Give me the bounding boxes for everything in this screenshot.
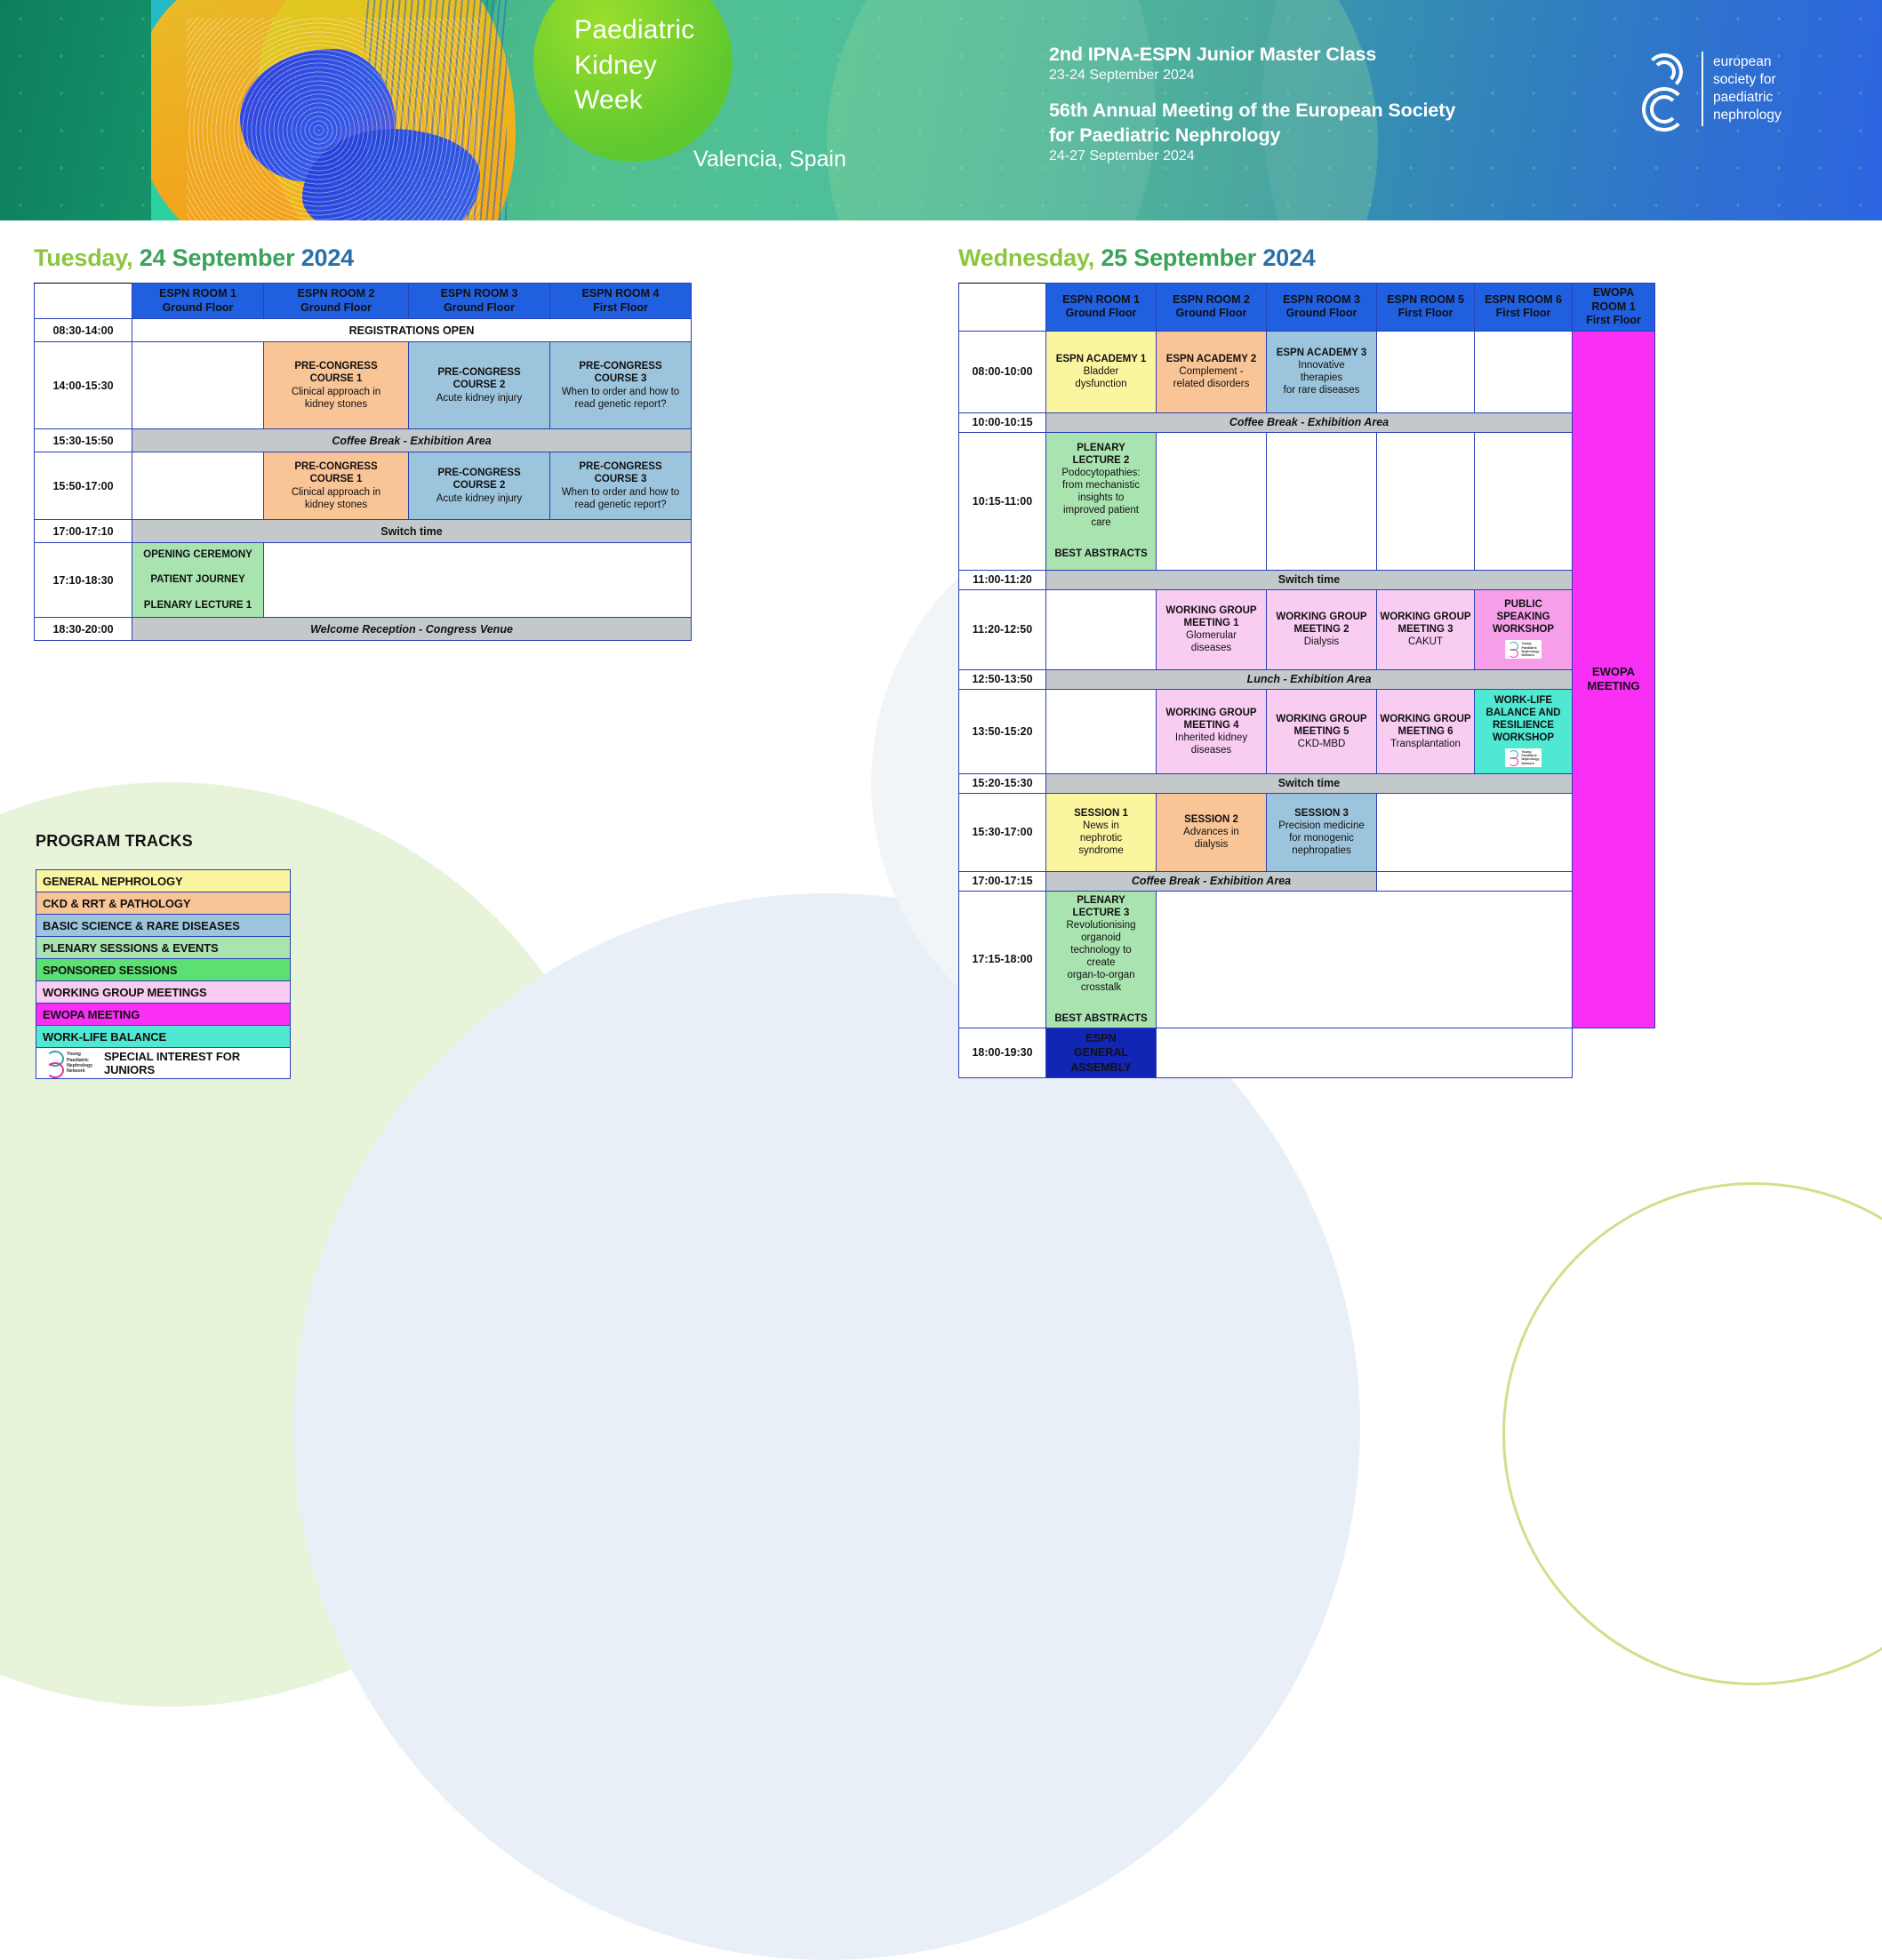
session-subtitle: Dialysis — [1304, 636, 1340, 647]
cell-label: Welcome Reception - Congress Venue — [310, 623, 513, 636]
room-name: ESPN ROOM 4 — [582, 287, 660, 300]
cell-label: ESPNGENERALASSEMBLY — [1070, 1032, 1131, 1074]
session-subtitle: Clinical approach inkidney stones — [292, 387, 380, 410]
session-subtitle: Bladderdysfunction — [1075, 366, 1126, 389]
event-title: Paediatric Kidney Week — [574, 12, 694, 118]
room-header-2: ESPN ROOM 2Ground Floor — [1157, 284, 1267, 332]
session-cell[interactable]: PRE-CONGRESSCOURSE 2Acute kidney injury — [409, 342, 550, 429]
break-cell[interactable]: Switch time — [1046, 570, 1573, 589]
session-subtitle: When to order and how toread genetic rep… — [562, 387, 679, 410]
session-subtitle: Clinical approach inkidney stones — [292, 487, 380, 510]
room-name: ESPN ROOM 2 — [298, 287, 375, 300]
table-row: 18:30-20:00Welcome Reception - Congress … — [35, 618, 692, 641]
background-ring — [1502, 1182, 1882, 1685]
empty-cell — [1475, 432, 1573, 570]
table-row: 17:00-17:10Switch time — [35, 520, 692, 543]
schedule-table-tuesday: ESPN ROOM 1Ground FloorESPN ROOM 2Ground… — [34, 283, 692, 641]
table-row: 11:20-12:50WORKING GROUPMEETING 1Glomeru… — [959, 589, 1655, 669]
room-header-4: ESPN ROOM 5First Floor — [1377, 284, 1475, 332]
room-name: ESPN ROOM 1 — [159, 287, 236, 300]
empty-cell — [1046, 589, 1157, 669]
break-cell[interactable]: Lunch - Exhibition Area — [1046, 669, 1573, 689]
session-title: PRE-CONGRESSCOURSE 3 — [579, 361, 661, 384]
session-cell[interactable]: ESPN ACADEMY 1Bladderdysfunction — [1046, 331, 1157, 412]
session-subtitle: Inherited kidneydiseases — [1175, 732, 1247, 756]
break-cell[interactable]: Switch time — [1046, 773, 1573, 793]
cell-label: Coffee Break - Exhibition Area — [1132, 875, 1291, 887]
cell-label: Switch time — [1278, 573, 1340, 586]
time-slot: 10:00-10:15 — [959, 412, 1046, 432]
session-extra: BEST ABSTRACTS — [1048, 1000, 1154, 1025]
table-corner-cell — [35, 284, 132, 319]
schedule-table-wednesday: ESPN ROOM 1Ground FloorESPN ROOM 2Ground… — [958, 283, 1655, 1078]
session-cell[interactable]: WORKING GROUPMEETING 1Glomerulardiseases — [1157, 589, 1267, 669]
session-extra: BEST ABSTRACTS — [1048, 535, 1154, 560]
session-title: WORKING GROUPMEETING 1 — [1165, 605, 1256, 628]
ypnn-badge-icon: YoungPaediatricNephrologyNetwork — [1505, 640, 1542, 659]
header-banner: Paediatric Kidney Week Valencia, Spain 2… — [0, 0, 1882, 220]
session-title: ESPN ACADEMY 1 — [1056, 354, 1147, 364]
table-row: 10:00-10:15Coffee Break - Exhibition Are… — [959, 412, 1655, 432]
wednesday-title-part-3: 2024 — [1256, 244, 1316, 271]
session-cell[interactable]: PUBLIC SPEAKINGWORKSHOPYoungPaediatricNe… — [1475, 589, 1573, 669]
session-title: SESSION 2 — [1184, 814, 1238, 825]
session-cell[interactable]: PRE-CONGRESSCOURSE 3When to order and ho… — [550, 342, 692, 429]
table-header-row: ESPN ROOM 1Ground FloorESPN ROOM 2Ground… — [35, 284, 692, 319]
track-legend-item-9: YoungPaediatricNephrologyNetworkSPECIAL … — [36, 1048, 290, 1078]
session-subtitle: Advances indialysis — [1183, 827, 1239, 850]
room-header-3: ESPN ROOM 3Ground Floor — [409, 284, 550, 319]
meta-1-sub: 24-27 September 2024 — [1049, 148, 1455, 164]
session-subtitle: CKD-MBD — [1298, 739, 1346, 749]
session-cell[interactable]: WORKING GROUPMEETING 6Transplantation — [1377, 689, 1475, 773]
room-floor: Ground Floor — [1286, 307, 1357, 319]
room-floor: First Floor — [1398, 307, 1454, 319]
table-row: 14:00-15:30PRE-CONGRESSCOURSE 1Clinical … — [35, 342, 692, 429]
espn-logo: european society for paediatric nephrolo… — [1640, 40, 1809, 138]
wednesday-title-part-2: 25 September — [1094, 244, 1256, 271]
ypnn-badge-icon: YoungPaediatricNephrologyNetwork — [1505, 748, 1542, 767]
time-slot: 08:00-10:00 — [959, 331, 1046, 412]
time-slot: 17:00-17:10 — [35, 520, 132, 543]
empty-cell — [1377, 793, 1573, 871]
empty-cell — [1157, 1028, 1573, 1078]
break-cell[interactable]: Coffee Break - Exhibition Area — [1046, 871, 1377, 891]
session-cell[interactable]: WORKING GROUPMEETING 4Inherited kidneydi… — [1157, 689, 1267, 773]
track-legend-item-3: BASIC SCIENCE & RARE DISEASES — [36, 915, 290, 937]
session-title: ESPN ACADEMY 2 — [1166, 354, 1257, 364]
session-subtitle: CAKUT — [1408, 636, 1443, 647]
room-name: ESPN ROOM 1 — [1062, 293, 1140, 306]
session-title: WORKING GROUPMEETING 3 — [1380, 612, 1470, 635]
session-title: WORKING GROUPMEETING 6 — [1380, 714, 1470, 737]
track-label: SPONSORED SESSIONS — [43, 964, 177, 977]
session-subtitle: Acute kidney injury — [436, 493, 523, 504]
time-slot: 15:50-17:00 — [35, 452, 132, 520]
cell-label: Switch time — [1278, 777, 1340, 789]
table-row: 11:00-11:20Switch time — [959, 570, 1655, 589]
banner-artwork — [151, 0, 533, 220]
session-cell[interactable]: ESPN ACADEMY 2Complement -related disord… — [1157, 331, 1267, 412]
table-row: 17:00-17:15Coffee Break - Exhibition Are… — [959, 871, 1655, 891]
time-slot: 17:15-18:00 — [959, 891, 1046, 1028]
time-slot: 11:00-11:20 — [959, 570, 1046, 589]
program-tracks-legend: GENERAL NEPHROLOGYCKD & RRT & PATHOLOGYB… — [36, 869, 291, 1079]
session-cell[interactable]: OPENING CEREMONYPATIENT JOURNEYPLENARY L… — [132, 543, 264, 618]
session-cell[interactable]: PRE-CONGRESSCOURSE 3When to order and ho… — [550, 452, 692, 520]
tuesday-title-part-3: 2024 — [294, 244, 354, 271]
session-cell[interactable]: SESSION 3Precision medicinefor monogenic… — [1267, 793, 1377, 871]
session-cell[interactable]: WORK-LIFEBALANCE ANDRESILIENCEWORKSHOPYo… — [1475, 689, 1573, 773]
session-subtitle: Complement -related disorders — [1173, 366, 1250, 389]
session-title: PRE-CONGRESSCOURSE 3 — [579, 461, 661, 484]
event-title-line-3: Week — [574, 83, 694, 118]
room-name: ESPN ROOM 6 — [1485, 293, 1562, 306]
room-floor: Ground Floor — [163, 301, 234, 314]
break-cell[interactable]: Switch time — [132, 520, 692, 543]
session-title: SESSION 1 — [1074, 808, 1128, 819]
empty-cell — [1377, 871, 1573, 891]
session-title: PRE-CONGRESSCOURSE 2 — [437, 367, 520, 390]
session-title: WORKING GROUPMEETING 5 — [1276, 714, 1366, 737]
table-row: 17:15-18:00PLENARYLECTURE 3Revolutionisi… — [959, 891, 1655, 1028]
cell-label: Coffee Break - Exhibition Area — [332, 435, 491, 447]
info-cell[interactable]: REGISTRATIONS OPEN — [132, 319, 692, 342]
session-title: PLENARYLECTURE 2 — [1073, 443, 1130, 466]
room-floor: First Floor — [593, 301, 648, 314]
ypnn-badge-icon: YoungPaediatricNephrologyNetwork — [42, 1049, 95, 1077]
session-subtitle: News innephroticsyndrome — [1078, 820, 1124, 856]
room-header-5: ESPN ROOM 6First Floor — [1475, 284, 1573, 332]
tuesday-title-part-1: Tuesday, — [34, 244, 132, 271]
table-row: 08:30-14:00REGISTRATIONS OPEN — [35, 319, 692, 342]
table-row: 15:30-15:50Coffee Break - Exhibition Are… — [35, 429, 692, 452]
track-label: PLENARY SESSIONS & EVENTS — [43, 941, 219, 955]
table-row: 08:00-10:00ESPN ACADEMY 1Bladderdysfunct… — [959, 331, 1655, 412]
track-legend-item-8: WORK-LIFE BALANCE — [36, 1026, 290, 1048]
time-slot: 15:20-15:30 — [959, 773, 1046, 793]
room-header-2: ESPN ROOM 2Ground Floor — [264, 284, 409, 319]
session-subtitle: Transplantation — [1390, 739, 1461, 749]
event-title-line-1: Paediatric — [574, 12, 694, 48]
event-meta: 2nd IPNA-ESPN Junior Master Class 23-24 … — [1049, 43, 1455, 180]
session-cell[interactable]: SESSION 1News innephroticsyndrome — [1046, 793, 1157, 871]
track-legend-item-4: PLENARY SESSIONS & EVENTS — [36, 937, 290, 959]
session-title: PRE-CONGRESSCOURSE 2 — [437, 468, 520, 491]
room-name: EWOPA ROOM 1 — [1591, 286, 1635, 313]
session-cell[interactable]: PLENARYLECTURE 2Podocytopathies:from mec… — [1046, 432, 1157, 570]
session-subtitle: Acute kidney injury — [436, 393, 523, 404]
session-cell[interactable]: SESSION 2Advances indialysis — [1157, 793, 1267, 871]
room-floor: First Floor — [1496, 307, 1551, 319]
table-row: 13:50-15:20WORKING GROUPMEETING 4Inherit… — [959, 689, 1655, 773]
empty-cell — [1475, 331, 1573, 412]
empty-cell — [132, 452, 264, 520]
meta-1-main: 56th Annual Meeting of the European Soci… — [1049, 99, 1455, 148]
session-cell[interactable]: WORKING GROUPMEETING 2Dialysis — [1267, 589, 1377, 669]
empty-cell — [1046, 689, 1157, 773]
track-legend-item-7: EWOPA MEETING — [36, 1004, 290, 1026]
track-label: WORK-LIFE BALANCE — [43, 1030, 166, 1044]
room-floor: First Floor — [1586, 314, 1641, 326]
room-floor: Ground Floor — [1176, 307, 1247, 319]
track-legend-item-5: SPONSORED SESSIONS — [36, 959, 290, 981]
session-cell[interactable]: ESPN ACADEMY 3Innovativetherapiesfor rar… — [1267, 331, 1377, 412]
espn-logo-text: european society for paediatric nephrolo… — [1713, 53, 1782, 125]
cell-label: Lunch - Exhibition Area — [1247, 673, 1372, 685]
room-header-4: ESPN ROOM 4First Floor — [550, 284, 692, 319]
table-row: 17:10-18:30OPENING CEREMONYPATIENT JOURN… — [35, 543, 692, 618]
track-legend-item-6: WORKING GROUP MEETINGS — [36, 981, 290, 1004]
empty-cell — [1157, 891, 1573, 1028]
program-tracks-title: PROGRAM TRACKS — [36, 832, 193, 851]
time-slot: 08:30-14:00 — [35, 319, 132, 342]
room-name: ESPN ROOM 3 — [1283, 293, 1360, 306]
time-slot: 12:50-13:50 — [959, 669, 1046, 689]
session-title: WORKING GROUPMEETING 4 — [1165, 708, 1256, 731]
page-title-wednesday: Wednesday, 25 September 2024 — [958, 244, 1316, 272]
session-cell[interactable]: PRE-CONGRESSCOURSE 1Clinical approach in… — [264, 452, 409, 520]
session-subtitle: Precision medicinefor monogenicnephropat… — [1278, 820, 1365, 856]
session-cell[interactable]: PRE-CONGRESSCOURSE 1Clinical approach in… — [264, 342, 409, 429]
espn-logo-divider — [1702, 52, 1703, 126]
table-row: 10:15-11:00PLENARYLECTURE 2Podocytopathi… — [959, 432, 1655, 570]
room-name: ESPN ROOM 5 — [1387, 293, 1464, 306]
session-subtitle: Revolutionisingorganoidtechnology tocrea… — [1067, 920, 1136, 993]
time-slot: 18:00-19:30 — [959, 1028, 1046, 1078]
room-name: ESPN ROOM 3 — [441, 287, 518, 300]
tuesday-title-part-2: 24 September — [132, 244, 294, 271]
session-title: PRE-CONGRESSCOURSE 1 — [294, 461, 377, 484]
table-row: 18:00-19:30ESPNGENERALASSEMBLY — [959, 1028, 1655, 1078]
session-title: PRE-CONGRESSCOURSE 1 — [294, 361, 377, 384]
empty-cell — [132, 342, 264, 429]
break-cell[interactable]: Coffee Break - Exhibition Area — [1046, 412, 1573, 432]
session-cell[interactable]: PRE-CONGRESSCOURSE 2Acute kidney injury — [409, 452, 550, 520]
cell-label: REGISTRATIONS OPEN — [349, 324, 475, 337]
track-label: EWOPA MEETING — [43, 1008, 140, 1021]
room-floor: Ground Floor — [444, 301, 515, 314]
table-row: 12:50-13:50Lunch - Exhibition Area — [959, 669, 1655, 689]
meta-0-main: 2nd IPNA-ESPN Junior Master Class — [1049, 43, 1455, 68]
session-cell[interactable]: WORKING GROUPMEETING 3CAKUT — [1377, 589, 1475, 669]
track-legend-item-2: CKD & RRT & PATHOLOGY — [36, 892, 290, 915]
session-subtitle: When to order and how toread genetic rep… — [562, 487, 679, 510]
room-header-6: EWOPA ROOM 1First Floor — [1573, 284, 1655, 332]
session-title: WORK-LIFEBALANCE ANDRESILIENCEWORKSHOP — [1486, 695, 1561, 743]
session-title: SESSION 3 — [1294, 808, 1349, 819]
room-header-1: ESPN ROOM 1Ground Floor — [1046, 284, 1157, 332]
table-row: 15:30-17:00SESSION 1News innephroticsynd… — [959, 793, 1655, 871]
time-slot: 10:15-11:00 — [959, 432, 1046, 570]
table-row: 15:20-15:30Switch time — [959, 773, 1655, 793]
time-slot: 17:10-18:30 — [35, 543, 132, 618]
track-label: SPECIAL INTEREST FOR JUNIORS — [104, 1050, 290, 1076]
room-header-1: ESPN ROOM 1Ground Floor — [132, 284, 264, 319]
cell-label: Switch time — [380, 525, 442, 538]
session-title: OPENING CEREMONYPATIENT JOURNEYPLENARY L… — [143, 549, 252, 610]
session-subtitle: Innovativetherapiesfor rare diseases — [1284, 360, 1360, 396]
time-slot: 14:00-15:30 — [35, 342, 132, 429]
track-legend-item-1: GENERAL NEPHROLOGY — [36, 870, 290, 892]
session-title: PLENARYLECTURE 3 — [1073, 895, 1130, 918]
break-cell[interactable]: Welcome Reception - Congress Venue — [132, 618, 692, 641]
room-header-3: ESPN ROOM 3Ground Floor — [1267, 284, 1377, 332]
ewopa-meeting-cell[interactable]: EWOPAMEETING — [1573, 331, 1655, 1028]
session-cell[interactable]: PLENARYLECTURE 3Revolutionisingorganoidt… — [1046, 891, 1157, 1028]
track-label: GENERAL NEPHROLOGY — [43, 875, 183, 888]
cell-label: Coffee Break - Exhibition Area — [1229, 416, 1389, 428]
room-floor: Ground Floor — [300, 301, 372, 314]
meta-0-sub: 23-24 September 2024 — [1049, 68, 1455, 84]
time-slot: 15:30-17:00 — [959, 793, 1046, 871]
empty-cell — [1377, 432, 1475, 570]
wednesday-title-part-1: Wednesday, — [958, 244, 1094, 271]
session-subtitle: Podocytopathies:from mechanisticinsights… — [1061, 468, 1140, 528]
time-slot: 17:00-17:15 — [959, 871, 1046, 891]
session-subtitle: Glomerulardiseases — [1186, 630, 1237, 653]
track-label: WORKING GROUP MEETINGS — [43, 986, 207, 999]
page-title-tuesday: Tuesday, 24 September 2024 — [34, 244, 354, 272]
table-corner-cell — [959, 284, 1046, 332]
session-title: WORKING GROUPMEETING 2 — [1276, 612, 1366, 635]
table-row: 15:50-17:00PRE-CONGRESSCOURSE 1Clinical … — [35, 452, 692, 520]
empty-cell — [264, 543, 692, 618]
room-floor: Ground Floor — [1066, 307, 1137, 319]
time-slot: 13:50-15:20 — [959, 689, 1046, 773]
room-name: ESPN ROOM 2 — [1173, 293, 1250, 306]
table-header-row: ESPN ROOM 1Ground FloorESPN ROOM 2Ground… — [959, 284, 1655, 332]
time-slot: 11:20-12:50 — [959, 589, 1046, 669]
time-slot: 18:30-20:00 — [35, 618, 132, 641]
empty-cell — [1267, 432, 1377, 570]
session-title: ESPN ACADEMY 3 — [1277, 348, 1367, 358]
track-label: CKD & RRT & PATHOLOGY — [43, 897, 190, 910]
session-cell[interactable]: WORKING GROUPMEETING 5CKD-MBD — [1267, 689, 1377, 773]
empty-cell — [1157, 432, 1267, 570]
track-label: BASIC SCIENCE & RARE DISEASES — [43, 919, 240, 932]
session-title: PUBLIC SPEAKINGWORKSHOP — [1493, 599, 1554, 635]
event-title-line-2: Kidney — [574, 48, 694, 84]
event-city: Valencia, Spain — [693, 147, 846, 172]
time-slot: 15:30-15:50 — [35, 429, 132, 452]
info-cell[interactable]: ESPNGENERALASSEMBLY — [1046, 1028, 1157, 1078]
espn-logo-mark — [1640, 52, 1692, 126]
empty-cell — [1377, 331, 1475, 412]
break-cell[interactable]: Coffee Break - Exhibition Area — [132, 429, 692, 452]
